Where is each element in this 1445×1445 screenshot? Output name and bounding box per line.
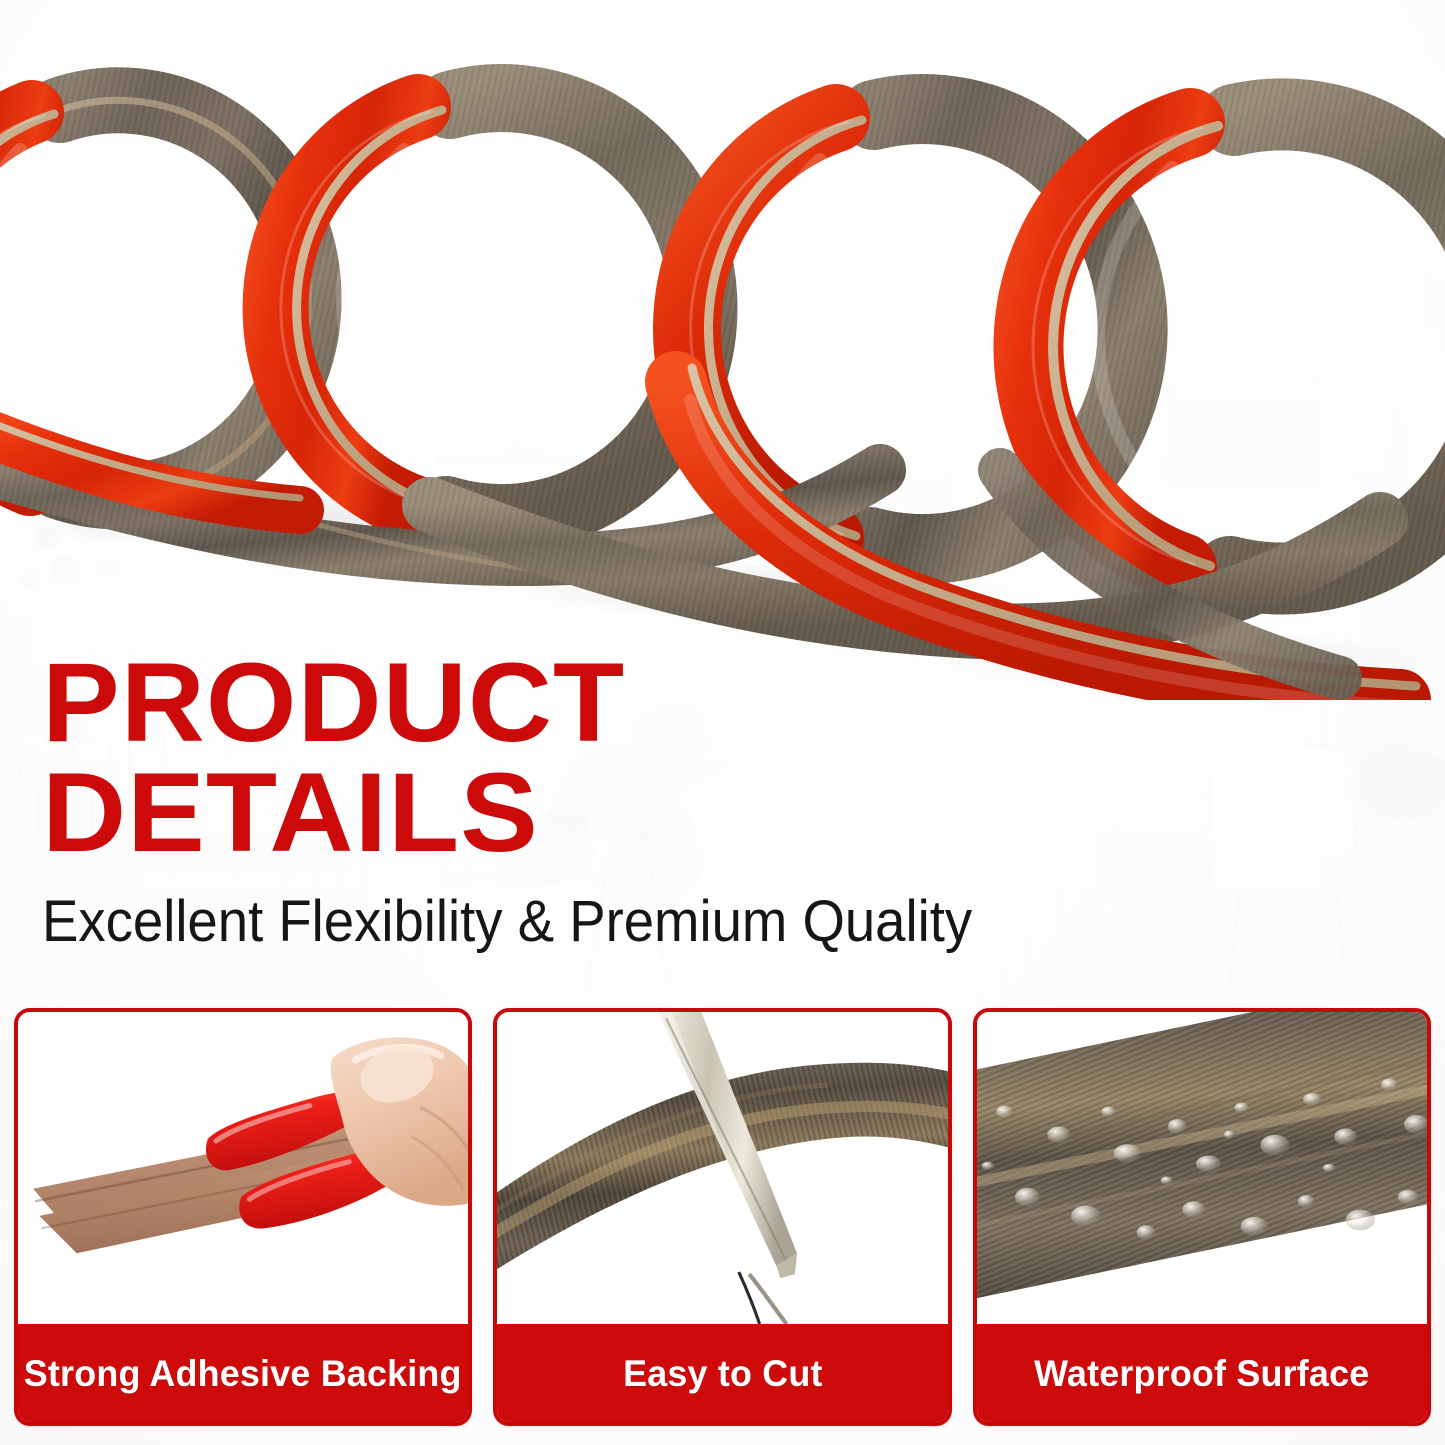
feature-panel-adhesive[interactable]: Strong Adhesive Backing — [14, 1008, 472, 1426]
headline-block: PRODUCT DETAILS Excellent Flexibility & … — [42, 648, 1142, 952]
hero-coiled-banding-image — [0, 0, 1445, 700]
feature-image-cut — [497, 1012, 947, 1324]
feature-caption-cut: Easy to Cut — [496, 1324, 948, 1423]
coil-2 — [276, 98, 704, 518]
feature-caption-text: Easy to Cut — [623, 1353, 823, 1395]
feature-panel-cut[interactable]: Easy to Cut — [493, 1008, 951, 1426]
product-detail-image: PRODUCT DETAILS Excellent Flexibility & … — [0, 0, 1445, 1445]
waterproof-surface-illustration — [977, 1012, 1427, 1324]
feature-panel-waterproof[interactable]: Waterproof Surface — [973, 1008, 1431, 1426]
feature-caption-text: Waterproof Surface — [1034, 1353, 1369, 1395]
feature-panel-row: Strong Adhesive Backing — [14, 1008, 1431, 1426]
coil-illustration — [0, 0, 1445, 700]
feature-image-waterproof — [977, 1012, 1427, 1324]
feature-image-adhesive — [18, 1012, 468, 1324]
page-title: PRODUCT DETAILS — [42, 648, 1186, 868]
adhesive-backing-illustration — [18, 1012, 468, 1324]
page-subtitle: Excellent Flexibility & Premium Quality — [42, 892, 1076, 953]
easy-to-cut-illustration — [497, 1012, 947, 1324]
feature-caption-adhesive: Strong Adhesive Backing — [17, 1324, 469, 1423]
feature-caption-text: Strong Adhesive Backing — [24, 1353, 462, 1395]
feature-caption-waterproof: Waterproof Surface — [976, 1324, 1428, 1423]
